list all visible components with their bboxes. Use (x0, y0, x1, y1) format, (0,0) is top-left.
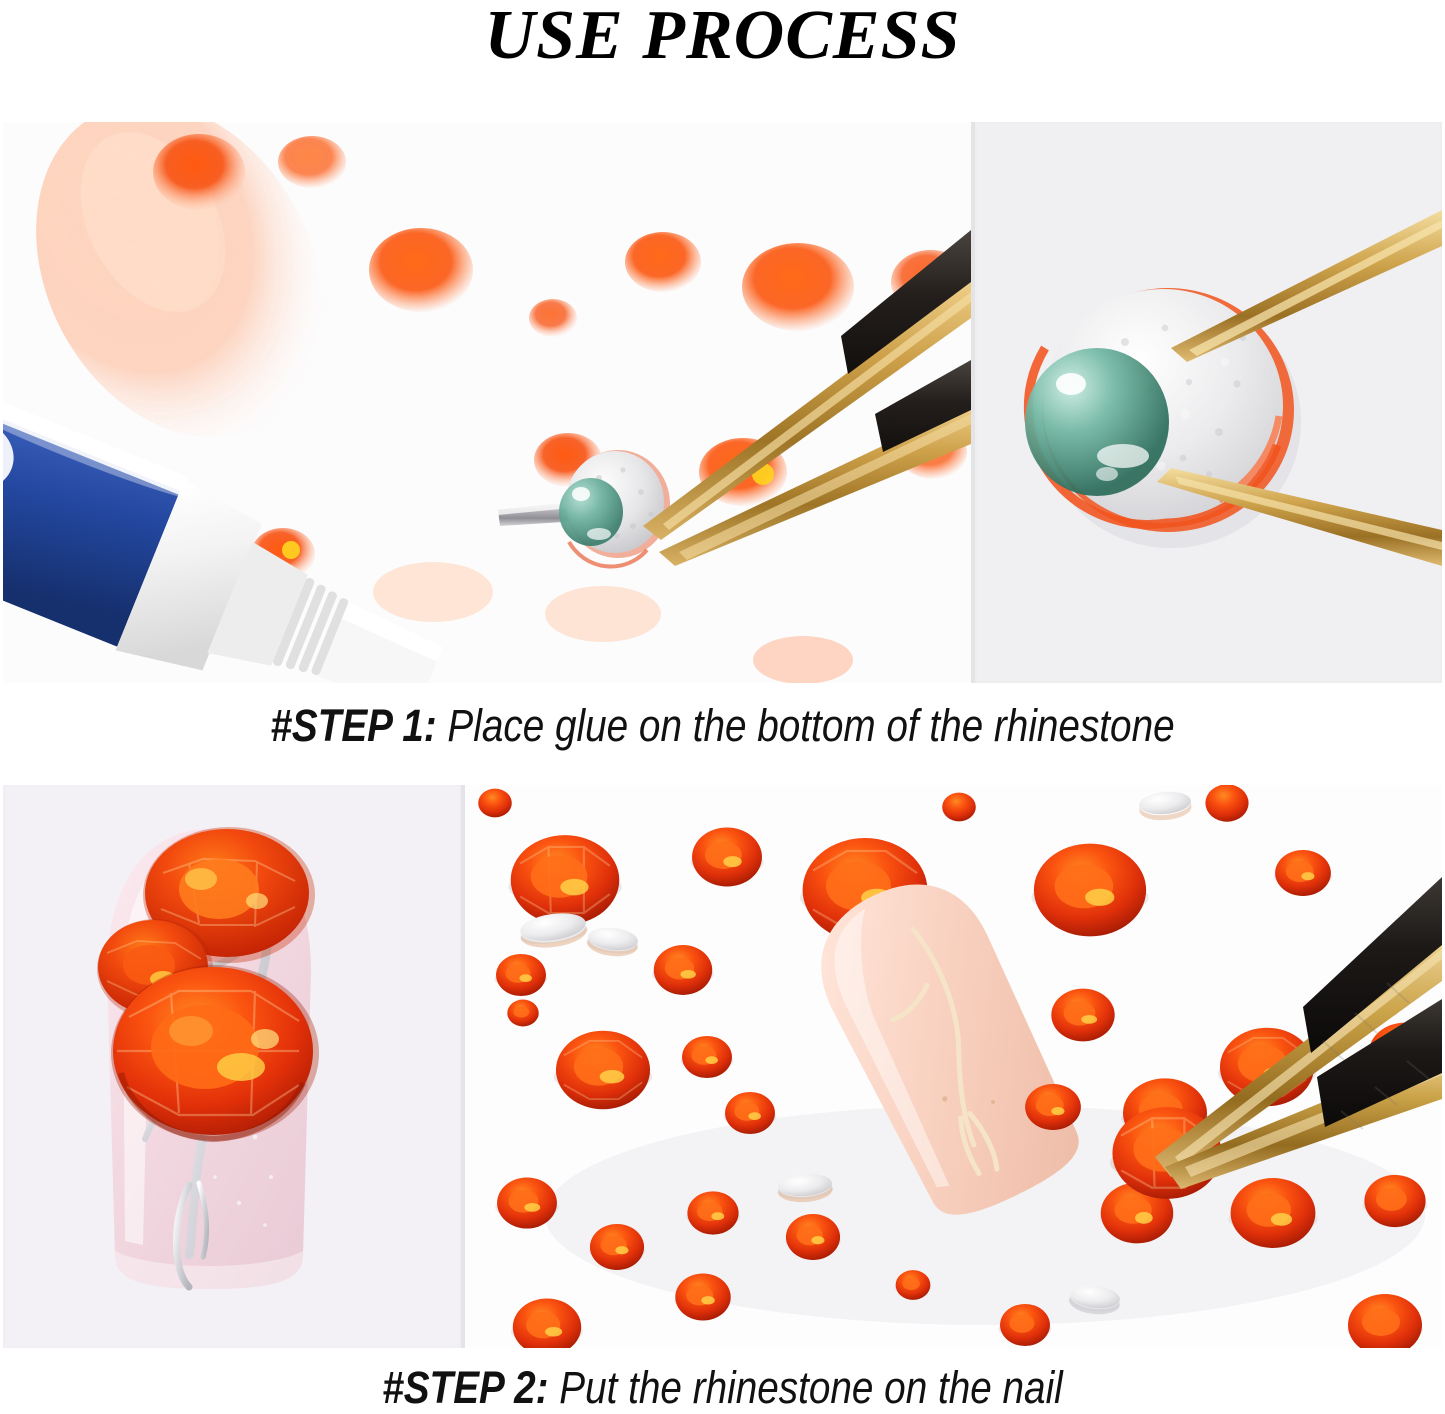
rhinestone-macro-photo (975, 122, 1442, 683)
orange-rhinestone-large (111, 965, 319, 1141)
step-1-label: #STEP 1: (270, 700, 436, 751)
placing-rhinestone-photo (465, 785, 1442, 1348)
panel-divider-vertical (971, 122, 975, 683)
step-1-image-row (3, 122, 1442, 683)
finished-nail-illustration (3, 785, 461, 1348)
placing-rhinestone-illustration (465, 785, 1442, 1348)
glue-applying-photo (3, 122, 971, 683)
step-2-image-row (3, 785, 1442, 1348)
panel-divider-vertical-row2 (461, 785, 465, 1348)
page-title: USE PROCESS (0, 0, 1445, 76)
finished-nail-photo (3, 785, 461, 1348)
step-1-caption: #STEP 1: Place glue on the bottom of the… (101, 700, 1344, 752)
step-1-text: Place glue on the bottom of the rhinesto… (437, 700, 1175, 751)
infographic-page: USE PROCESS (0, 0, 1445, 1412)
step-2-caption: #STEP 2: Put the rhinestone on the nail (101, 1362, 1344, 1414)
glue-applying-illustration (3, 122, 971, 683)
rhinestone-macro-illustration (975, 122, 1442, 683)
teal-glue-drop (1025, 348, 1169, 496)
step-2-text: Put the rhinestone on the nail (549, 1362, 1063, 1413)
step-2-label: #STEP 2: (382, 1362, 548, 1413)
